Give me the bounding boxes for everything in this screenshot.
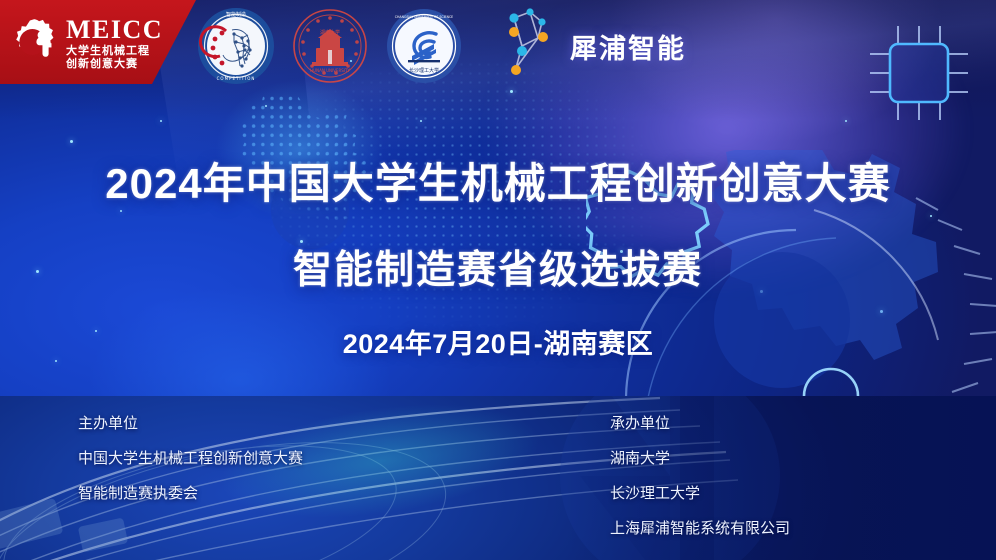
- particle: [510, 90, 513, 93]
- particle: [70, 140, 73, 143]
- svg-text:湖南大学: 湖南大学: [320, 29, 340, 36]
- svg-text:智能制造: 智能制造: [226, 11, 246, 18]
- footer-column-host: 承办单位 湖南大学 长沙理工大学 上海犀浦智能系统有限公司: [610, 416, 790, 556]
- svg-text:HUNAN UNIVERSITY: HUNAN UNIVERSITY: [310, 68, 350, 73]
- xipu-wordmark: 犀浦智能: [570, 27, 686, 66]
- page-subtitle-main: 智能制造赛省级选拔赛: [0, 239, 996, 295]
- organizer-item: 智能制造赛执委会: [78, 486, 303, 501]
- particle: [265, 105, 267, 107]
- organizer-heading: 主办单位: [78, 416, 303, 431]
- xipu-intelligent-logo: 犀浦智能: [500, 8, 686, 84]
- page-title: 2024年中国大学生机械工程创新创意大赛: [0, 150, 996, 211]
- network-nodes-icon: [500, 8, 562, 84]
- particle: [160, 120, 162, 122]
- changsha-university-of-science-technology-seal: 长沙理工大学 CHANGSHA UNIVERSITY OF SCIENCE: [384, 6, 464, 86]
- partner-logo-row: 智能制造 COMPETITION 湖南大学 HUNAN UNIVER: [196, 2, 686, 90]
- host-item: 长沙理工大学: [610, 486, 790, 501]
- poster-canvas: MEICC 大学生机械工程 创新创意大赛: [0, 0, 996, 560]
- svg-text:长沙理工大学: 长沙理工大学: [409, 67, 439, 74]
- organizer-item: 中国大学生机械工程创新创意大赛: [78, 451, 303, 466]
- svg-text:COMPETITION: COMPETITION: [217, 76, 256, 81]
- meicc-subtitle-line1: 大学生机械工程: [66, 46, 163, 57]
- radial-ticks-icon: [916, 198, 996, 392]
- hunan-university-seal: 湖南大学 HUNAN UNIVERSITY: [290, 6, 370, 86]
- meicc-subtitle-line2: 创新创意大赛: [66, 59, 163, 70]
- intelligent-manufacturing-seal: 智能制造 COMPETITION: [196, 6, 276, 86]
- meicc-wordmark: MEICC 大学生机械工程 创新创意大赛: [66, 15, 163, 70]
- host-item: 湖南大学: [610, 451, 790, 466]
- event-date-region: 2024年7月20日-湖南赛区: [0, 322, 996, 361]
- cpu-chip-icon: [864, 18, 974, 126]
- gear-person-logo-icon: [8, 16, 60, 68]
- host-item: 上海犀浦智能系统有限公司: [610, 521, 790, 536]
- particle: [420, 120, 422, 122]
- footer-column-organizer: 主办单位 中国大学生机械工程创新创意大赛 智能制造赛执委会: [78, 416, 303, 521]
- svg-text:CHANGSHA UNIVERSITY OF SCIENCE: CHANGSHA UNIVERSITY OF SCIENCE: [395, 15, 453, 19]
- particle: [845, 120, 847, 122]
- meicc-acronym: MEICC: [66, 17, 163, 43]
- host-heading: 承办单位: [610, 416, 790, 431]
